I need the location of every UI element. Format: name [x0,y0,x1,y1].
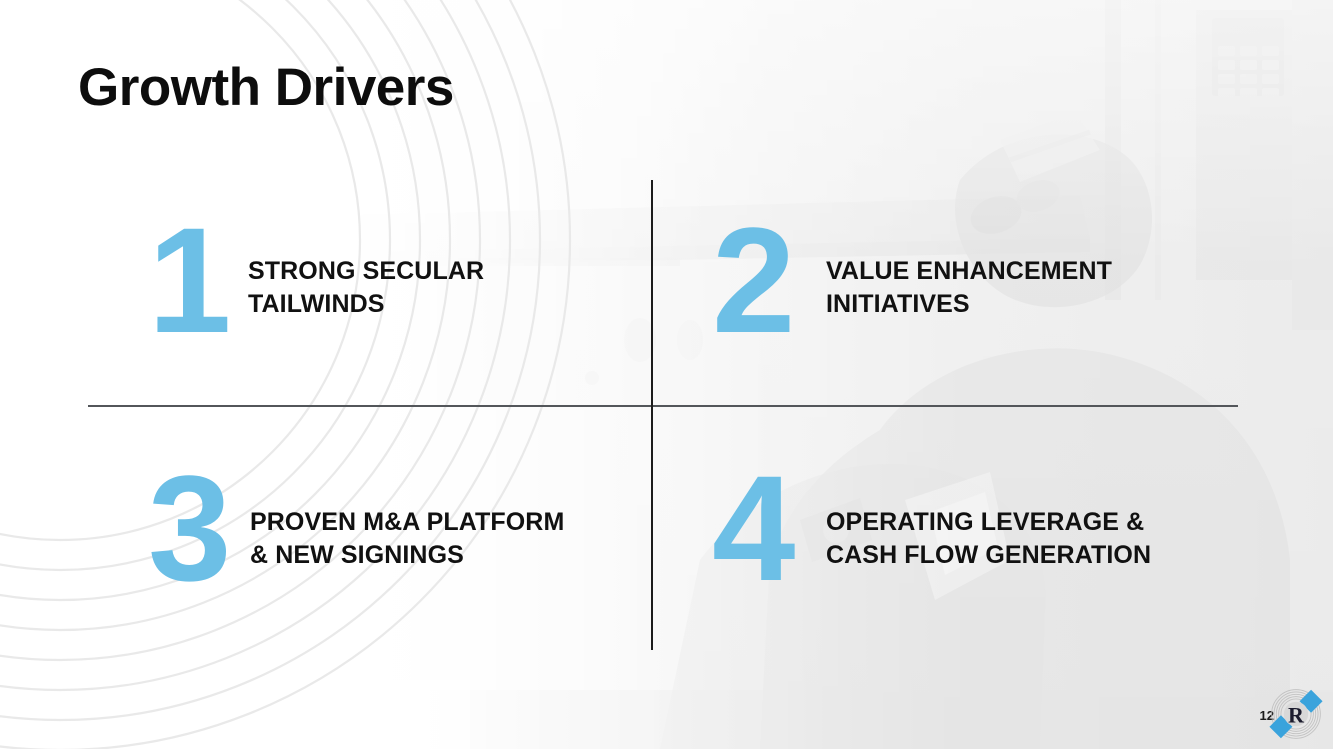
driver-number-1: 1 [148,222,248,339]
driver-number-4: 4 [712,470,812,587]
company-logo: R [1267,685,1325,743]
slide-root: Growth Drivers 1 STRONG SECULAR TAILWIND… [0,0,1333,749]
driver-label-1: STRONG SECULAR TAILWINDS [248,222,484,322]
driver-label-2: VALUE ENHANCEMENT INITIATIVES [826,222,1112,322]
growth-driver-item-4[interactable]: 4 OPERATING LEVERAGE & CASH FLOW GENERAT… [712,470,1151,587]
svg-text:R: R [1288,703,1305,728]
growth-driver-item-3[interactable]: 3 PROVEN M&A PLATFORM & NEW SIGNINGS [148,470,564,587]
driver-number-3: 3 [148,470,248,587]
driver-label-4: OPERATING LEVERAGE & CASH FLOW GENERATIO… [826,470,1151,573]
driver-number-2: 2 [712,222,812,339]
growth-driver-item-1[interactable]: 1 STRONG SECULAR TAILWINDS [148,222,484,339]
growth-drivers-grid: 1 STRONG SECULAR TAILWINDS 2 VALUE ENHAN… [0,0,1333,749]
driver-label-3: PROVEN M&A PLATFORM & NEW SIGNINGS [250,470,564,573]
growth-driver-item-2[interactable]: 2 VALUE ENHANCEMENT INITIATIVES [712,222,1112,339]
